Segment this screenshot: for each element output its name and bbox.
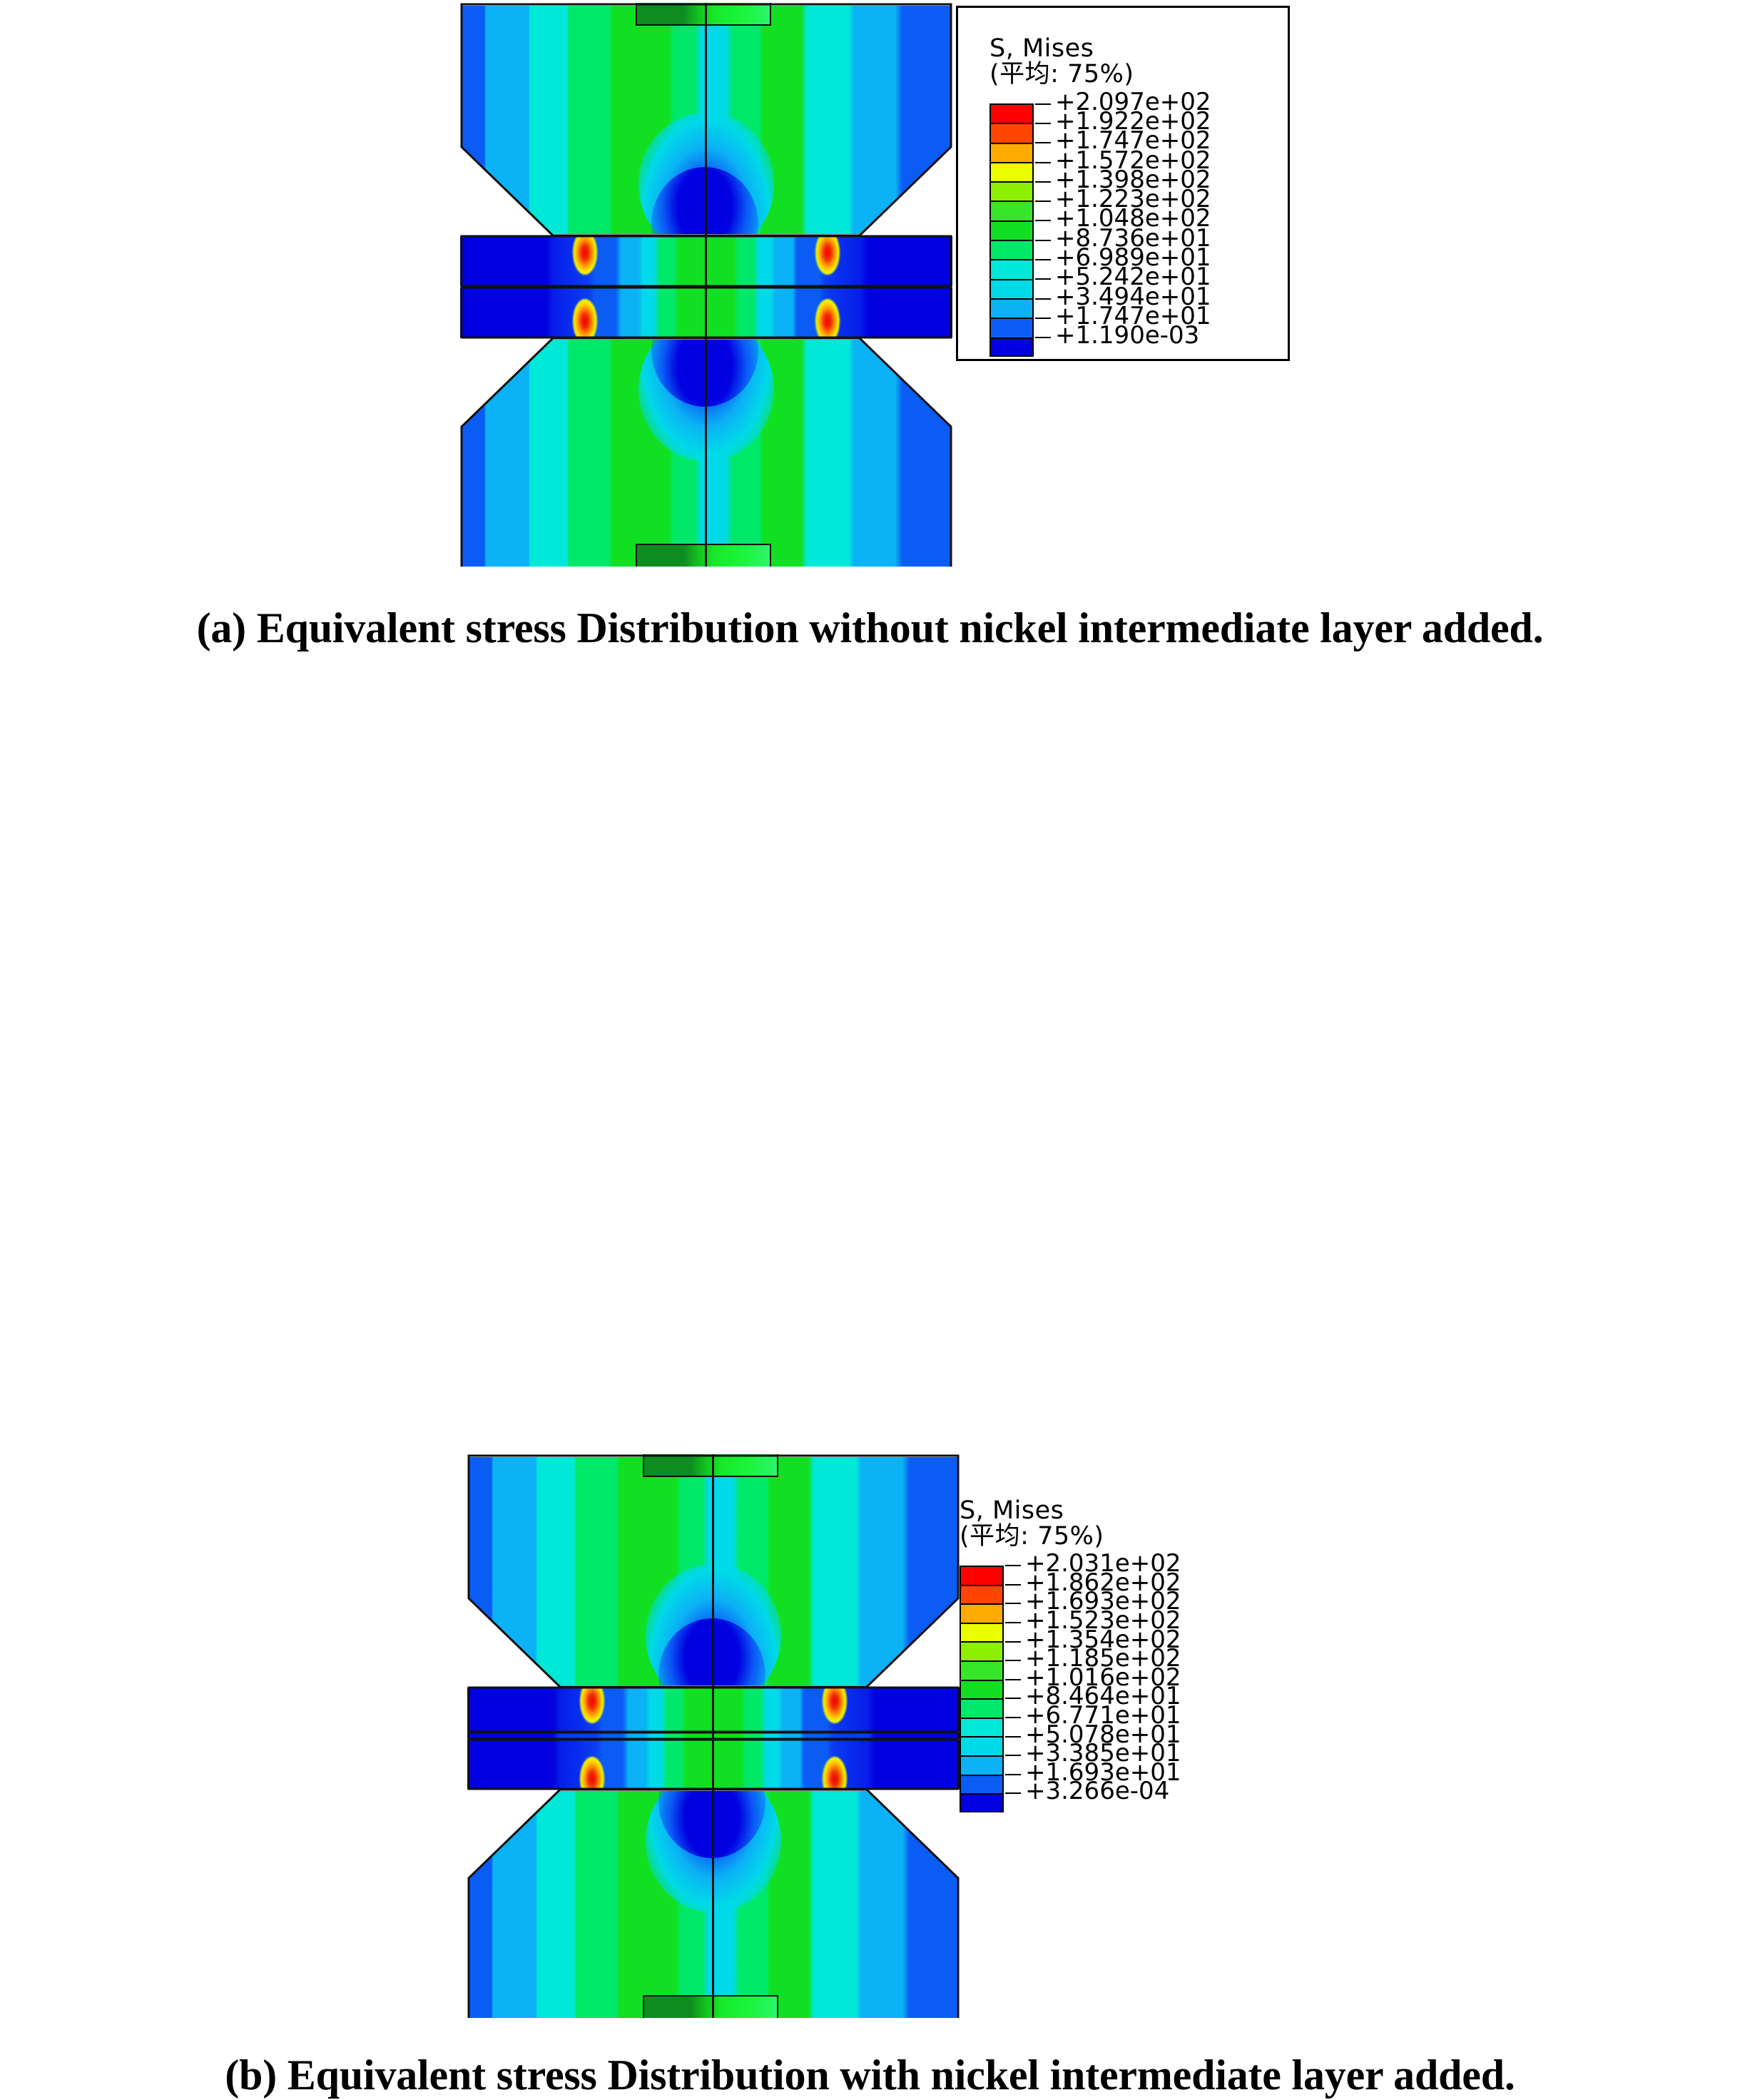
legend-average-b: (平均: 75%) [960,1524,1104,1550]
legend-tick [1005,1679,1021,1680]
contour-plot-b [467,1454,960,2018]
legend-tick [1035,298,1051,300]
legend-tick [1005,1603,1021,1604]
legend-tick [1005,1698,1021,1699]
legend-tick [1005,1792,1021,1794]
legend-a: S, Mises (平均: 75%) +2.097e+02+1.922e+02+… [956,6,1290,361]
legend-color-swatch [960,1698,1004,1718]
hot-spot-left-lower-a [573,299,597,338]
legend-color-swatch [989,181,1034,201]
legend-color-swatch [989,123,1034,142]
legend-tick [1035,318,1051,319]
legend-color-swatch [989,259,1034,278]
legend-color-swatch [989,162,1034,181]
legend-color-swatch [989,143,1034,162]
legend-tick [1035,162,1051,163]
legend-color-swatch [960,1641,1004,1660]
vertical-centerline-b [712,1454,714,2018]
legend-tick [1005,1755,1021,1756]
contour-plot-a [460,3,952,567]
figure-panel-b: S, Mises (平均: 75%) +2.031e+02+1.862e+02+… [0,721,1740,1299]
legend-tick [1005,1660,1021,1661]
legend-color-swatch [960,1585,1004,1604]
loading-pad-bottom-a [636,544,771,567]
legend-variable-a: S, Mises [989,36,1134,62]
legend-color-swatch [989,338,1034,357]
legend-header-a: S, Mises (平均: 75%) [989,36,1134,87]
legend-swatches-a: +2.097e+02+1.922e+02+1.747e+02+1.572e+02… [989,103,1211,357]
legend-average-a: (平均: 75%) [989,62,1134,88]
legend-color-swatch [989,318,1034,337]
legend-color-swatch [989,279,1034,298]
legend-row: +3.266e-04 [960,1793,1181,1812]
legend-tick [1005,1774,1021,1775]
loading-pad-top-a [636,3,771,26]
legend-color-swatch [989,103,1034,123]
legend-tick [1035,103,1051,105]
fea-model-b [467,1454,960,2018]
legend-header-b: S, Mises (平均: 75%) [960,1498,1104,1549]
legend-variable-b: S, Mises [960,1498,1104,1524]
legend-tick [1035,201,1051,202]
legend-tick [1005,1641,1021,1643]
legend-color-swatch [989,240,1034,259]
legend-tick [1005,1622,1021,1623]
legend-color-swatch [960,1736,1004,1755]
legend-tick [1035,181,1051,183]
legend-color-swatch [960,1660,1004,1680]
legend-tick [1035,259,1051,260]
legend-tick [1035,240,1051,241]
legend-tick [1005,1565,1021,1566]
legend-tick [1035,220,1051,221]
legend-tick [1035,123,1051,124]
legend-color-swatch [960,1718,1004,1737]
legend-color-swatch [960,1603,1004,1623]
fea-model-a [460,3,952,567]
legend-color-swatch [989,298,1034,318]
legend-color-swatch [960,1680,1004,1699]
legend-tick [1005,1717,1021,1718]
loading-pad-bottom-b [643,1995,778,2018]
legend-color-swatch [960,1793,1004,1812]
legend-value-label: +1.190e-03 [1055,321,1199,350]
legend-color-swatch [989,201,1034,220]
caption-a: (a) Equivalent stress Distribution witho… [0,604,1740,653]
legend-value-label: +3.266e-04 [1025,1777,1169,1805]
legend-swatches-b: +2.031e+02+1.862e+02+1.693e+02+1.523e+02… [960,1566,1181,1812]
legend-color-swatch [960,1755,1004,1775]
legend-color-swatch [960,1566,1004,1585]
caption-b: (b) Equivalent stress Distribution with … [0,2051,1740,2100]
legend-color-swatch [960,1775,1004,1794]
legend-tick [1035,337,1051,338]
legend-color-swatch [989,220,1034,240]
legend-tick [1035,142,1051,143]
legend-color-swatch [960,1623,1004,1642]
legend-tick [1005,1736,1021,1738]
hot-spot-right-lower-a [815,299,840,338]
legend-tick [1005,1584,1021,1586]
legend-row: +1.190e-03 [989,338,1211,357]
loading-pad-top-b [643,1454,778,1477]
figure-panel-a: S, Mises (平均: 75%) +2.097e+02+1.922e+02+… [0,0,1740,578]
vertical-centerline-a [705,3,707,567]
legend-tick [1035,278,1051,280]
